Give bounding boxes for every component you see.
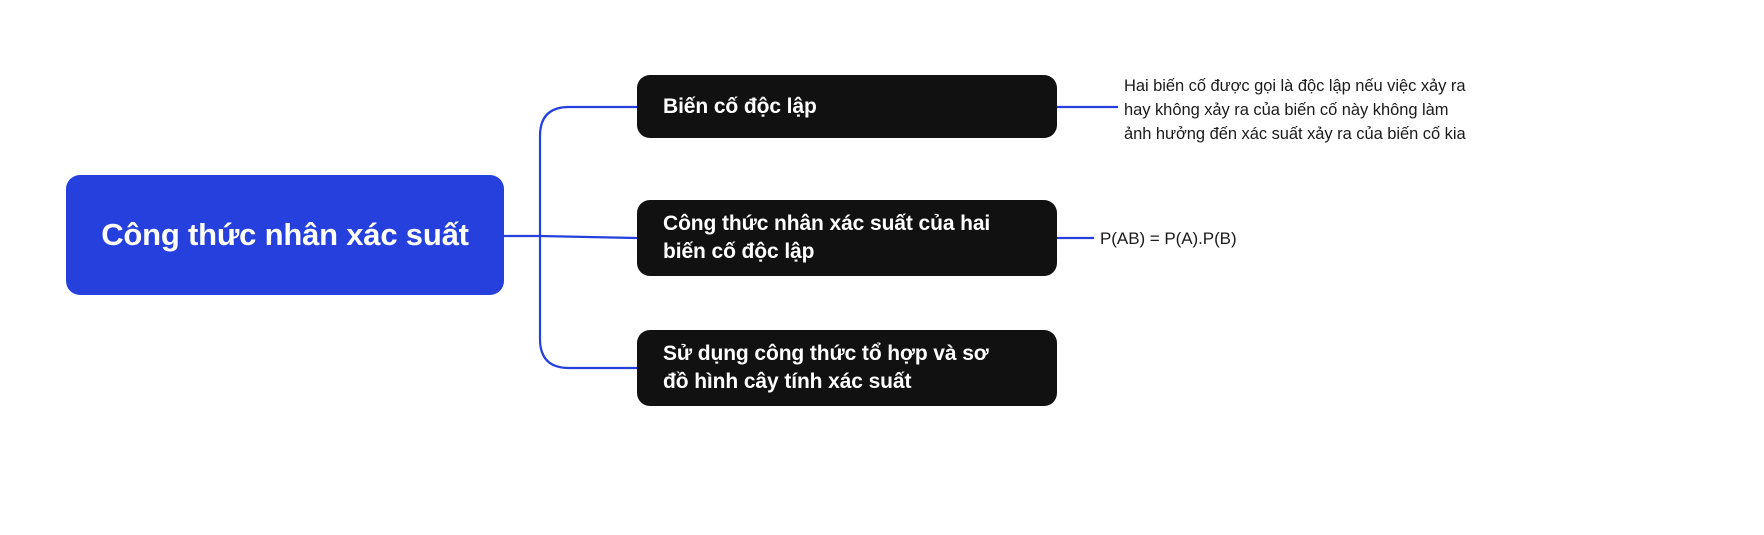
- root-node[interactable]: Công thức nhân xác suất: [66, 175, 504, 295]
- branch-node-1[interactable]: Biến cố độc lập: [637, 75, 1057, 138]
- annotation-branch-2: P(AB) = P(A).P(B): [1100, 227, 1720, 252]
- branch-node-3-label: Sử dụng công thức tổ hợp và sơ đồ hình c…: [663, 340, 989, 396]
- annotation-branch-1: Hai biến cố được gọi là độc lập nếu việc…: [1124, 74, 1744, 146]
- mindmap-canvas: Công thức nhân xác suất Biến cố độc lập …: [0, 0, 1764, 535]
- branch-node-1-label: Biến cố độc lập: [663, 93, 817, 121]
- branch-node-2-label: Công thức nhân xác suất của hai biến cố …: [663, 210, 990, 266]
- root-node-label: Công thức nhân xác suất: [101, 215, 469, 255]
- branch-node-3[interactable]: Sử dụng công thức tổ hợp và sơ đồ hình c…: [637, 330, 1057, 406]
- branch-node-2[interactable]: Công thức nhân xác suất của hai biến cố …: [637, 200, 1057, 276]
